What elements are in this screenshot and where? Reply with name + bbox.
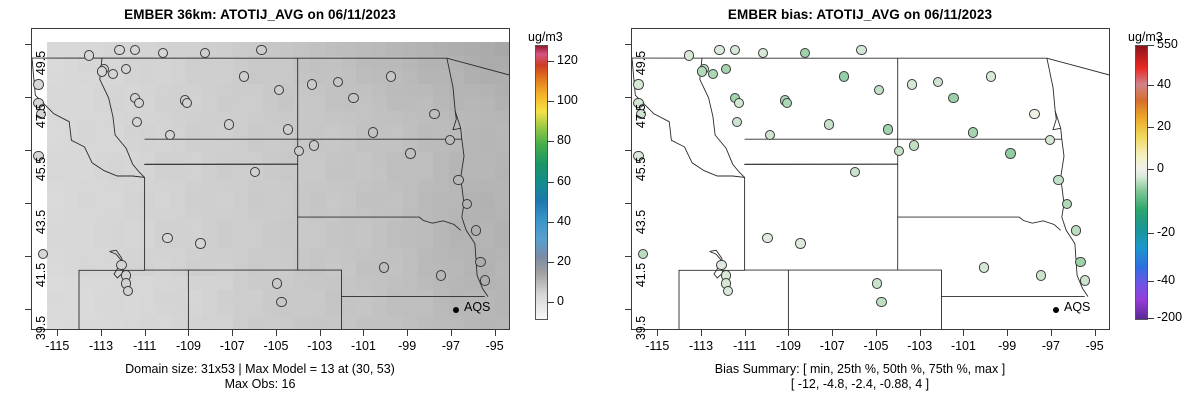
station-marker	[1029, 109, 1039, 119]
station-marker	[97, 66, 107, 76]
colorbar-tick	[1147, 127, 1154, 128]
x-axis-tick	[232, 330, 233, 336]
station-marker	[986, 71, 996, 81]
x-axis-tick-label: -105	[856, 339, 896, 353]
colorbar-tick	[1147, 318, 1154, 319]
x-axis-tick-label: -103	[900, 339, 940, 353]
colorbar-tick	[1147, 281, 1154, 282]
y-axis-tick	[625, 44, 631, 45]
y-axis-tick-label: 39.5	[34, 308, 48, 348]
colorbar-tick	[547, 141, 554, 142]
y-axis-tick	[625, 256, 631, 257]
panel-bias: EMBER bias: ATOTIJ_AVG on 06/11/2023 AQS…	[600, 0, 1200, 409]
colorbar-tick-label: 20	[557, 254, 571, 268]
colorbar-bias	[1135, 45, 1148, 320]
y-axis-tick-label: 45.5	[34, 149, 48, 189]
station-marker	[224, 119, 234, 129]
x-axis-tick-label: -113	[681, 339, 721, 353]
colorbar-tick-label: 40	[557, 214, 571, 228]
colorbar-tick	[547, 182, 554, 183]
y-axis-tick-label: 47.5	[34, 96, 48, 136]
station-marker	[732, 117, 742, 127]
x-axis-tick	[701, 330, 702, 336]
station-marker	[294, 146, 304, 156]
colorbar-tick	[1147, 169, 1154, 170]
colorbar-tick	[547, 262, 554, 263]
station-marker	[276, 297, 286, 307]
aqs-legend-dot-model	[453, 307, 459, 313]
colorbar-tick-label: 0	[1157, 161, 1164, 175]
x-axis-tick	[1051, 330, 1052, 336]
caption-bias-line2: [ -12, -4.8, -2.4, -0.88, 4 ]	[600, 377, 1120, 391]
x-axis-tick	[495, 330, 496, 336]
aqs-legend-label-bias: AQS	[1064, 300, 1090, 314]
station-marker	[348, 93, 358, 103]
station-marker	[765, 130, 775, 140]
station-marker	[386, 71, 396, 81]
x-axis-tick-label: -107	[212, 339, 252, 353]
station-marker	[429, 109, 439, 119]
y-axis-tick	[25, 44, 31, 45]
station-marker	[907, 79, 917, 89]
station-marker	[1071, 225, 1081, 235]
x-axis-tick	[788, 330, 789, 336]
y-axis-tick	[625, 309, 631, 310]
station-marker	[716, 260, 726, 270]
station-marker	[721, 64, 731, 74]
colorbar-tick-label: 100	[557, 93, 578, 107]
x-axis-tick-label: -95	[1075, 339, 1115, 353]
x-axis-tick-label: -107	[812, 339, 852, 353]
station-marker	[283, 124, 293, 134]
caption-model-line1: Domain size: 31x53 | Max Model = 13 at (…	[0, 362, 520, 376]
colorbar-tick-label: -40	[1157, 273, 1175, 287]
station-marker	[307, 79, 317, 89]
x-axis-tick	[920, 330, 921, 336]
x-axis-tick-label: -111	[125, 339, 165, 353]
x-axis-tick-label: -99	[987, 339, 1027, 353]
x-axis-tick-label: -103	[300, 339, 340, 353]
colorbar-tick-label: 40	[1157, 77, 1171, 91]
colorbar-unit-model: ug/m3	[528, 30, 563, 44]
panel-title-bias: EMBER bias: ATOTIJ_AVG on 06/11/2023	[600, 7, 1120, 22]
y-axis-tick	[625, 150, 631, 151]
colorbar-tick	[1147, 45, 1154, 46]
y-axis-tick	[25, 309, 31, 310]
colorbar-tick	[547, 61, 554, 62]
x-axis-tick	[832, 330, 833, 336]
x-axis-tick	[876, 330, 877, 336]
x-axis-tick	[363, 330, 364, 336]
x-axis-tick-label: -101	[943, 339, 983, 353]
y-axis-tick	[625, 203, 631, 204]
colorbar-tick-label: -200	[1157, 310, 1182, 324]
station-marker	[1036, 270, 1046, 280]
x-axis-tick	[276, 330, 277, 336]
aqs-legend-dot-bias	[1053, 307, 1059, 313]
colorbar-tick	[547, 101, 554, 102]
x-axis-tick	[188, 330, 189, 336]
station-marker	[165, 130, 175, 140]
aqs-legend-label-model: AQS	[464, 300, 490, 314]
x-axis-tick	[145, 330, 146, 336]
station-marker	[1053, 175, 1063, 185]
y-axis-tick-label: 41.5	[34, 255, 48, 295]
y-axis-tick	[625, 97, 631, 98]
station-marker	[84, 50, 94, 60]
caption-bias-line1: Bias Summary: [ min, 25th %, 50th %, 75t…	[600, 362, 1120, 376]
station-marker	[1005, 148, 1015, 158]
colorbar-tick	[547, 222, 554, 223]
station-marker	[405, 148, 415, 158]
station-marker	[800, 48, 810, 58]
station-marker	[272, 278, 282, 288]
panel-title-model: EMBER 36km: ATOTIJ_AVG on 06/11/2023	[0, 7, 520, 22]
station-marker	[453, 175, 463, 185]
x-axis-tick	[451, 330, 452, 336]
y-axis-tick	[25, 203, 31, 204]
colorbar-model	[535, 45, 548, 320]
station-marker	[795, 238, 805, 248]
station-marker	[309, 140, 319, 150]
colorbar-tick	[547, 302, 554, 303]
y-axis-tick-label: 39.5	[634, 308, 648, 348]
station-marker	[114, 45, 124, 55]
x-axis-tick	[57, 330, 58, 336]
y-axis-tick-label: 41.5	[634, 255, 648, 295]
x-axis-tick	[101, 330, 102, 336]
station-marker	[883, 124, 893, 134]
x-axis-tick	[657, 330, 658, 336]
station-marker	[121, 64, 131, 74]
colorbar-tick-label: 550	[1157, 37, 1178, 51]
station-marker	[1080, 275, 1090, 285]
station-marker	[979, 262, 989, 272]
y-axis-tick-label: 49.5	[634, 43, 648, 83]
station-marker	[475, 257, 485, 267]
y-axis-tick-label: 47.5	[634, 96, 648, 136]
station-marker	[132, 117, 142, 127]
station-marker	[684, 50, 694, 60]
x-axis-tick-label: -105	[256, 339, 296, 353]
station-marker	[894, 146, 904, 156]
figure-root: EMBER 36km: ATOTIJ_AVG on 06/11/2023 AQS…	[0, 0, 1200, 409]
x-axis-tick-label: -111	[725, 339, 765, 353]
colorbar-tick-label: 80	[557, 133, 571, 147]
station-marker	[379, 262, 389, 272]
y-axis-tick-label: 49.5	[34, 43, 48, 83]
station-marker	[200, 48, 210, 58]
x-axis-tick-label: -99	[387, 339, 427, 353]
x-axis-tick-label: -113	[81, 339, 121, 353]
station-marker	[909, 140, 919, 150]
map-plot-model[interactable]: AQS	[31, 28, 510, 330]
colorbar-tick	[1147, 85, 1154, 86]
station-marker	[876, 297, 886, 307]
panel-model: EMBER 36km: ATOTIJ_AVG on 06/11/2023 AQS…	[0, 0, 600, 409]
x-axis-tick	[320, 330, 321, 336]
colorbar-tick	[1147, 233, 1154, 234]
station-marker	[968, 127, 978, 137]
colorbar-tick-label: -20	[1157, 225, 1175, 239]
x-axis-tick	[963, 330, 964, 336]
y-axis-tick-label: 43.5	[34, 202, 48, 242]
station-marker	[948, 93, 958, 103]
station-marker	[368, 127, 378, 137]
station-marker	[436, 270, 446, 280]
map-plot-bias[interactable]: AQS	[631, 28, 1110, 330]
colorbar-tick-label: 60	[557, 174, 571, 188]
station-marker	[872, 278, 882, 288]
station-marker	[116, 260, 126, 270]
x-axis-tick	[407, 330, 408, 336]
x-axis-tick	[1095, 330, 1096, 336]
y-axis-tick	[25, 97, 31, 98]
x-axis-tick-label: -95	[475, 339, 515, 353]
x-axis-tick-label: -109	[768, 339, 808, 353]
y-axis-tick	[25, 150, 31, 151]
x-axis-tick	[745, 330, 746, 336]
station-marker	[697, 66, 707, 76]
station-marker	[824, 119, 834, 129]
station-marker	[1075, 257, 1085, 267]
station-marker	[480, 275, 490, 285]
colorbar-tick-label: 20	[1157, 119, 1171, 133]
station-marker	[471, 225, 481, 235]
station-marker	[714, 45, 724, 55]
x-axis-tick	[1007, 330, 1008, 336]
y-axis-tick	[25, 256, 31, 257]
x-axis-tick-label: -97	[431, 339, 471, 353]
colorbar-tick-label: 120	[557, 53, 578, 67]
station-marker	[195, 238, 205, 248]
colorbar-tick-label: 0	[557, 294, 564, 308]
x-axis-tick-label: -101	[343, 339, 383, 353]
caption-model-line2: Max Obs: 16	[0, 377, 520, 391]
y-axis-tick-label: 45.5	[634, 149, 648, 189]
y-axis-tick-label: 43.5	[634, 202, 648, 242]
x-axis-tick-label: -109	[168, 339, 208, 353]
x-axis-tick-label: -97	[1031, 339, 1071, 353]
